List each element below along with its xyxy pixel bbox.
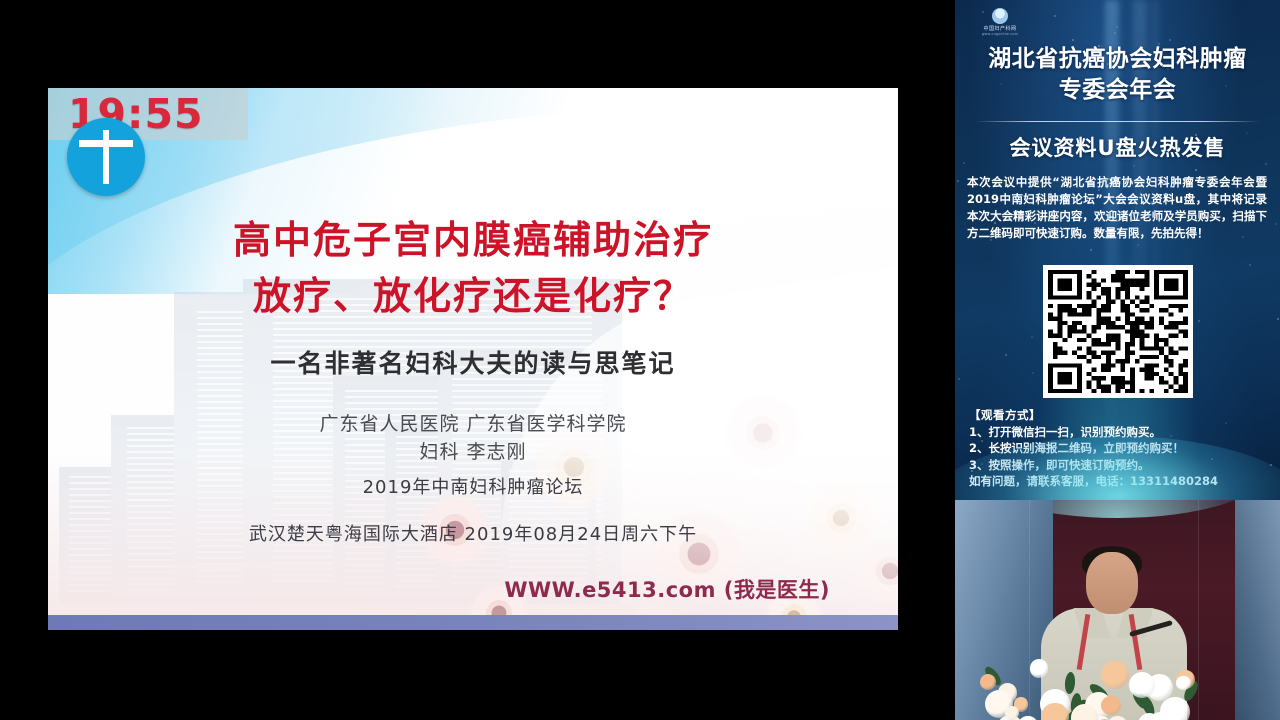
poster-divider <box>975 121 1260 122</box>
qr-code-image <box>1048 270 1188 393</box>
side-panel: 中国妇产科网 www.cogonline.com 湖北省抗癌协会妇科肿瘤专委会年… <box>955 0 1280 720</box>
flower-shape <box>1101 696 1121 716</box>
slide-title-line2: 放疗、放化疗还是化疗？ <box>48 268 898 324</box>
channel-logo-icon <box>67 118 145 196</box>
slide-title: 高中危子宫内膜癌辅助治疗 放疗、放化疗还是化疗？ <box>48 212 898 324</box>
flower-shape <box>1107 716 1127 720</box>
poster-subtitle: 会议资料U盘火热发售 <box>965 132 1270 162</box>
slide-subtitle: 一名非著名妇科大夫的读与思笔记 <box>48 344 898 380</box>
speaker-face <box>1086 552 1138 614</box>
slide-video-pane[interactable]: 高中危子宫内膜癌辅助治疗 放疗、放化疗还是化疗？ 一名非著名妇科大夫的读与思笔记… <box>0 0 955 720</box>
flower-shape <box>1101 661 1129 689</box>
affiliation-line1: 广东省人民医院 广东省医学科学院 <box>48 410 898 438</box>
poster-title: 湖北省抗癌协会妇科肿瘤专委会年会 <box>965 44 1270 106</box>
slide-forum-name: 2019年中南妇科肿瘤论坛 <box>48 473 898 499</box>
cogonline-logo-en: www.cogonline.com <box>969 32 1031 37</box>
slide-affiliation: 广东省人民医院 广东省医学科学院 妇科 李志刚 <box>48 410 898 466</box>
flower-shape <box>1030 659 1049 678</box>
foliage <box>1064 672 1076 695</box>
podium-flowers <box>973 642 1203 720</box>
slide-venue: 武汉楚天粤海国际大酒店 2019年08月24日周六下午 <box>48 520 898 546</box>
cogonline-mark-icon <box>992 8 1008 24</box>
cogonline-logo: 中国妇产科网 www.cogonline.com <box>969 8 1031 42</box>
slide-watermark: WWW.e5413.com (我是医生) <box>504 574 830 604</box>
speaker-video-feed[interactable] <box>955 500 1280 720</box>
presentation-slide: 高中危子宫内膜癌辅助治疗 放疗、放化疗还是化疗？ 一名非著名妇科大夫的读与思笔记… <box>48 88 898 630</box>
how-to-watch-header: 【观看方式】 <box>969 407 1269 424</box>
promo-poster[interactable]: 中国妇产科网 www.cogonline.com 湖北省抗癌协会妇科肿瘤专委会年… <box>955 0 1280 500</box>
slide-text-layer: 高中危子宫内膜癌辅助治疗 放疗、放化疗还是化疗？ 一名非著名妇科大夫的读与思笔记… <box>48 88 898 630</box>
poster-body-text: 本次会议中提供“湖北省抗癌协会妇科肿瘤专委会年会暨2019中南妇科肿瘤论坛”大会… <box>967 174 1267 242</box>
slide-title-line1: 高中危子宫内膜癌辅助治疗 <box>48 212 898 268</box>
affiliation-line2: 妇科 李志刚 <box>48 438 898 466</box>
flower-shape <box>980 674 996 690</box>
flower-shape <box>1129 672 1155 698</box>
broadcast-screen: 高中危子宫内膜癌辅助治疗 放疗、放化疗还是化疗？ 一名非著名妇科大夫的读与思笔记… <box>0 0 1280 720</box>
flower-shape <box>1176 676 1190 690</box>
backdrop-right <box>1235 500 1280 720</box>
flower-shape <box>1018 716 1037 720</box>
flower-shape <box>1160 697 1189 720</box>
qr-code[interactable] <box>1043 265 1193 398</box>
